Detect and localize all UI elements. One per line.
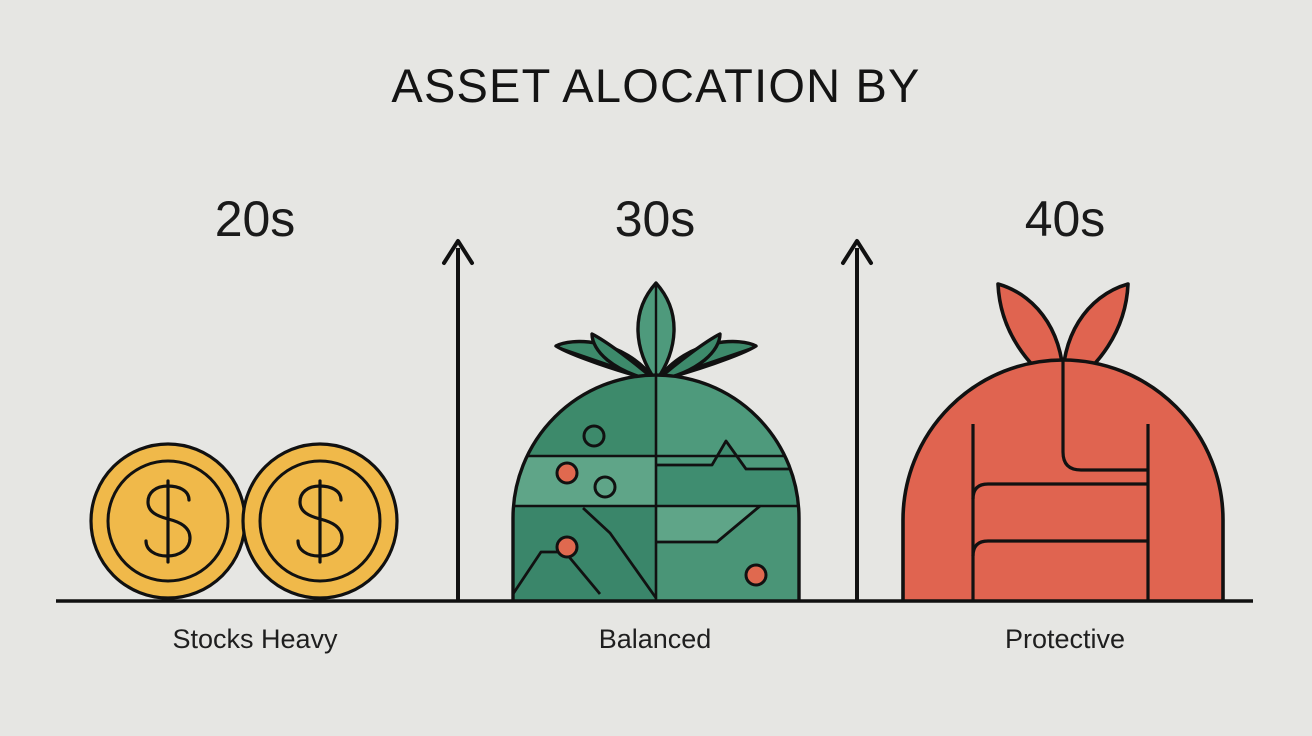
caption-stocks-heavy: Stocks Heavy [85, 624, 425, 655]
caption-protective: Protective [895, 624, 1235, 655]
green-bag-dot-coral-1 [557, 463, 577, 483]
infographic-canvas: ASSET ALOCATION BY 20s 30s 40s [0, 0, 1312, 736]
green-bag-leaves [556, 283, 756, 381]
gold-coin-right [243, 444, 397, 598]
green-bag-dot-coral-2 [557, 537, 577, 557]
gold-coin-left [91, 444, 245, 598]
caption-balanced: Balanced [485, 624, 825, 655]
icon-green-money-bag [513, 283, 799, 601]
icon-two-gold-coins [91, 444, 397, 598]
arrow-30s-to-40s [843, 241, 871, 601]
arrow-20s-to-30s [444, 241, 472, 601]
green-bag-dot-coral-3 [746, 565, 766, 585]
icon-red-money-bag [903, 284, 1223, 601]
